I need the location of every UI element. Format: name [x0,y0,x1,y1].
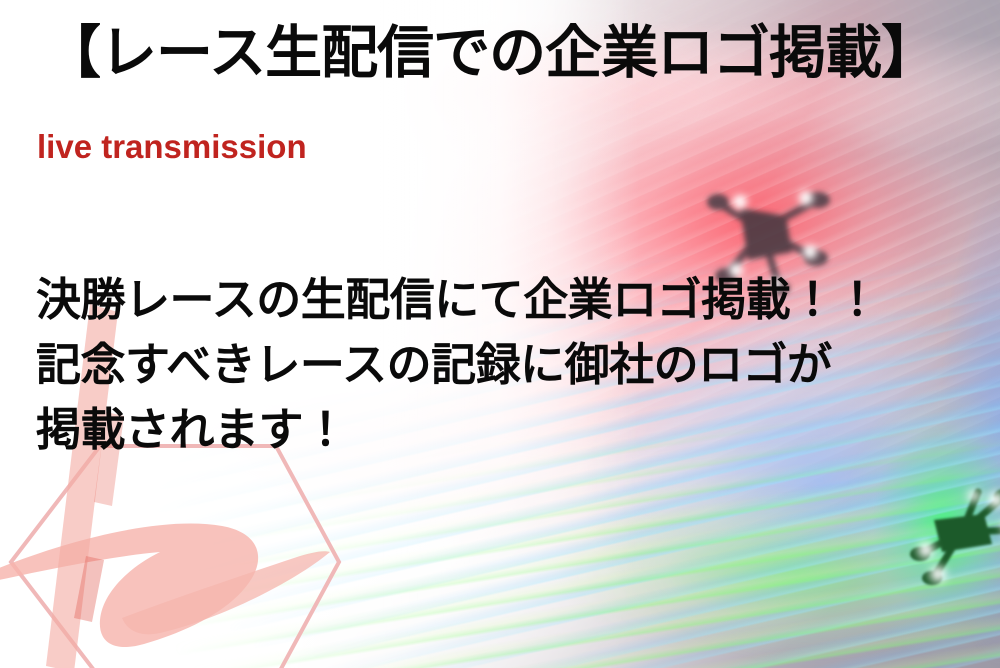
body-copy-line-3: 掲載されます！ [36,398,879,463]
watermark-swoosh-tail-icon [122,551,330,634]
page-title: 【レース生配信での企業ロゴ掲載】 [44,22,937,85]
drone-green-body-icon [934,514,992,552]
watermark-hexagon-icon [11,446,339,668]
watermark-swoosh-icon [0,524,258,647]
slide-canvas: 【レース生配信での企業ロゴ掲載】 live transmission 決勝レース… [0,0,1000,668]
drone-red-body-icon [740,208,792,260]
drone-green-motors-icon [910,489,1000,585]
body-copy: 決勝レースの生配信にて企業ロゴ掲載！！ 記念すべきレースの記録に御社のロゴが 掲… [36,268,879,462]
subtitle-live-transmission: live transmission [37,128,307,166]
drone-green-leds-icon [918,490,1000,582]
body-copy-line-1: 決勝レースの生配信にて企業ロゴ掲載！！ [36,268,879,333]
racing-drone-green-light-trail [900,470,1000,600]
watermark-slash-accent-lower-icon [74,556,104,622]
body-copy-line-2: 記念すべきレースの記録に御社のロゴが [36,333,879,398]
drone-green-frame-icon [924,492,1000,574]
